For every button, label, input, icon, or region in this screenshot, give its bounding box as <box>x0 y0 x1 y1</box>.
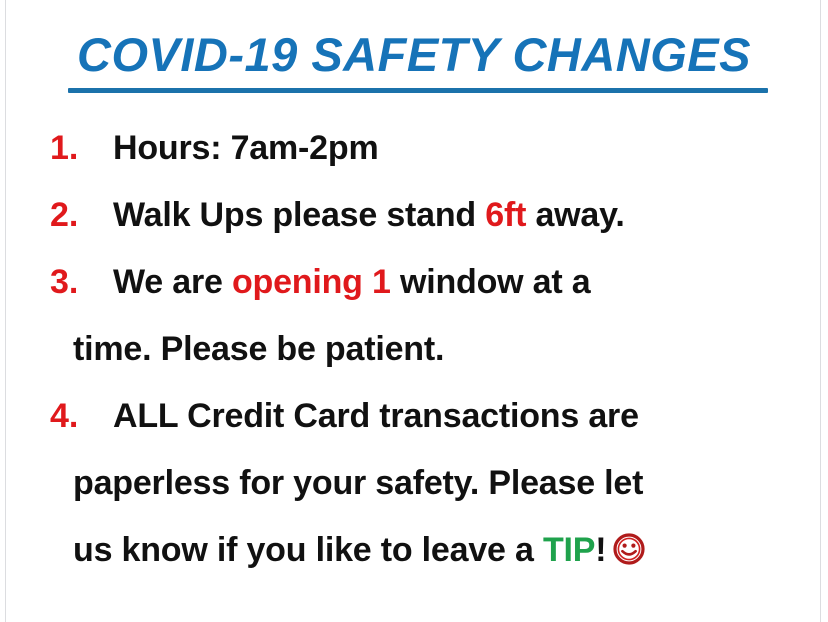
list-item-continuation-line: paperless for your safety. Please let <box>0 455 828 511</box>
title-underline-rule <box>68 88 768 93</box>
list-item: 4.ALL Credit Card transactions are <box>0 388 828 444</box>
list-item-number: 1. <box>50 120 113 176</box>
list-item-number: 2. <box>50 187 113 243</box>
list-item-number: 4. <box>50 388 113 444</box>
list-item-number: 3. <box>50 254 113 310</box>
text-segment: opening 1 <box>232 263 391 301</box>
list-item: 3.We are opening 1 window at a <box>0 254 828 310</box>
list-item-text: Walk Ups please stand 6ft away. <box>113 187 828 243</box>
page-title: COVID-19 SAFETY CHANGES <box>77 28 751 82</box>
safety-changes-list: 1.Hours: 7am-2pm2.Walk Ups please stand … <box>0 120 828 594</box>
text-segment: time. Please be patient. <box>73 330 444 368</box>
list-item-text: Hours: 7am-2pm <box>113 120 828 176</box>
list-item-text: We are opening 1 window at a <box>113 254 828 310</box>
text-segment: paperless for your safety. Please let <box>73 464 643 502</box>
sign-page: COVID-19 SAFETY CHANGES 1.Hours: 7am-2pm… <box>0 0 828 622</box>
list-item-text: ALL Credit Card transactions are <box>113 388 828 444</box>
text-segment: 6ft <box>485 196 526 234</box>
text-segment: ! <box>595 531 606 569</box>
text-segment: us know if you like to leave a <box>73 531 543 569</box>
list-item-continuation-line: time. Please be patient. <box>0 321 828 377</box>
text-segment: Walk Ups please stand <box>113 196 485 234</box>
text-segment: Hours: 7am-2pm <box>113 129 378 167</box>
text-segment: away. <box>526 196 624 234</box>
list-item-continuation-line: us know if you like to leave a TIP! <box>0 522 828 583</box>
text-segment: ALL Credit Card transactions are <box>113 397 639 435</box>
list-item: 2.Walk Ups please stand 6ft away. <box>0 187 828 243</box>
text-segment: We are <box>113 263 232 301</box>
list-item: 1.Hours: 7am-2pm <box>0 120 828 176</box>
text-segment: window at a <box>391 263 591 301</box>
smiley-face-icon <box>612 527 646 583</box>
title-block: COVID-19 SAFETY CHANGES <box>0 28 828 82</box>
text-segment: TIP <box>543 531 595 569</box>
